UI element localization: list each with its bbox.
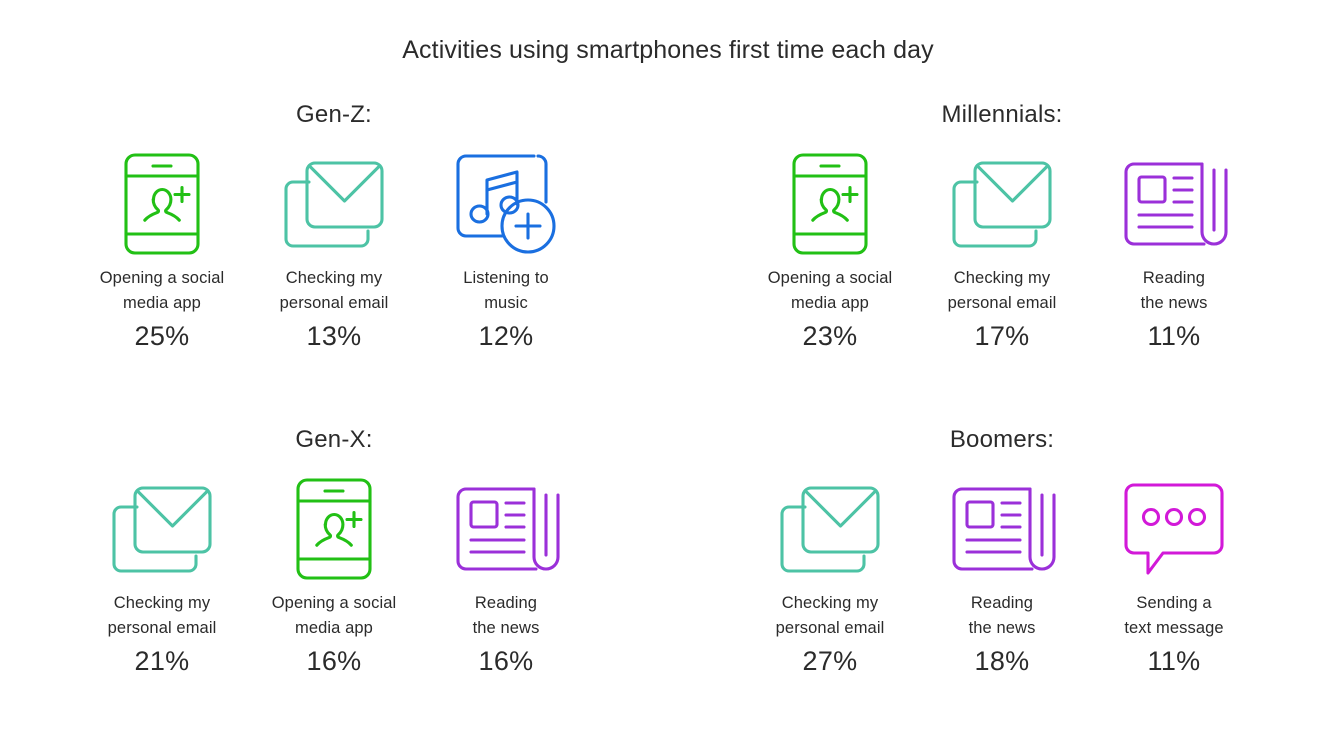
page-title: Activities using smartphones first time … — [0, 33, 1336, 67]
activity-label: Checking my personal email — [948, 266, 1057, 315]
activity-label: Reading the news — [1141, 266, 1208, 315]
activity-percentage: 23% — [803, 319, 858, 353]
envelope-icon — [282, 152, 386, 256]
activity-items-row: Opening a social media app25%Checking my… — [76, 152, 592, 353]
activity-label: Reading the news — [473, 591, 540, 640]
activity-percentage: 13% — [307, 319, 362, 353]
phone-social-icon — [778, 152, 882, 256]
activity-item: Checking my personal email21% — [76, 477, 248, 678]
activity-percentage: 16% — [479, 644, 534, 678]
generation-group: Millennials:Opening a social media app23… — [668, 100, 1336, 425]
generation-group: Gen-X:Checking my personal email21%Openi… — [0, 425, 668, 750]
activity-label: Checking my personal email — [776, 591, 885, 640]
activity-item: Opening a social media app16% — [248, 477, 420, 678]
generation-group: Boomers:Checking my personal email27%Rea… — [668, 425, 1336, 750]
envelope-icon — [778, 477, 882, 581]
activity-items-row: Opening a social media app23%Checking my… — [744, 152, 1260, 353]
activity-label: Checking my personal email — [280, 266, 389, 315]
activity-label: Checking my personal email — [108, 591, 217, 640]
activity-label: Opening a social media app — [100, 266, 225, 315]
activity-item: Sending a text message11% — [1088, 477, 1260, 678]
activity-percentage: 11% — [1148, 319, 1201, 353]
activity-percentage: 27% — [803, 644, 858, 678]
newspaper-icon — [950, 477, 1054, 581]
newspaper-icon — [454, 477, 558, 581]
phone-social-icon — [110, 152, 214, 256]
activity-item: Reading the news16% — [420, 477, 592, 678]
generation-group-title: Gen-Z: — [296, 100, 372, 130]
activity-label: Listening to music — [463, 266, 549, 315]
activity-percentage: 11% — [1148, 644, 1201, 678]
phone-social-icon — [282, 477, 386, 581]
generation-group: Gen-Z:Opening a social media app25%Check… — [0, 100, 668, 425]
activity-item: Checking my personal email13% — [248, 152, 420, 353]
activity-item: Reading the news18% — [916, 477, 1088, 678]
chat-bubble-icon — [1122, 477, 1226, 581]
activity-item: Listening to music12% — [420, 152, 592, 353]
activity-item: Checking my personal email17% — [916, 152, 1088, 353]
activity-item: Checking my personal email27% — [744, 477, 916, 678]
activity-percentage: 17% — [975, 319, 1030, 353]
activity-label: Opening a social media app — [768, 266, 893, 315]
generation-groups-grid: Gen-Z:Opening a social media app25%Check… — [0, 100, 1336, 750]
activity-items-row: Checking my personal email27%Reading the… — [744, 477, 1260, 678]
activity-label: Sending a text message — [1124, 591, 1223, 640]
activity-percentage: 12% — [479, 319, 534, 353]
envelope-icon — [110, 477, 214, 581]
activity-items-row: Checking my personal email21%Opening a s… — [76, 477, 592, 678]
envelope-icon — [950, 152, 1054, 256]
generation-group-title: Gen-X: — [295, 425, 372, 455]
activity-item: Reading the news11% — [1088, 152, 1260, 353]
generation-group-title: Boomers: — [950, 425, 1054, 455]
activity-label: Reading the news — [969, 591, 1036, 640]
music-add-icon — [454, 152, 558, 256]
activity-percentage: 18% — [975, 644, 1030, 678]
activity-percentage: 21% — [135, 644, 190, 678]
activity-label: Opening a social media app — [272, 591, 397, 640]
newspaper-icon — [1122, 152, 1226, 256]
infographic-root: Activities using smartphones first time … — [0, 0, 1336, 727]
activity-item: Opening a social media app23% — [744, 152, 916, 353]
activity-percentage: 25% — [135, 319, 190, 353]
activity-percentage: 16% — [307, 644, 362, 678]
activity-item: Opening a social media app25% — [76, 152, 248, 353]
generation-group-title: Millennials: — [941, 100, 1062, 130]
